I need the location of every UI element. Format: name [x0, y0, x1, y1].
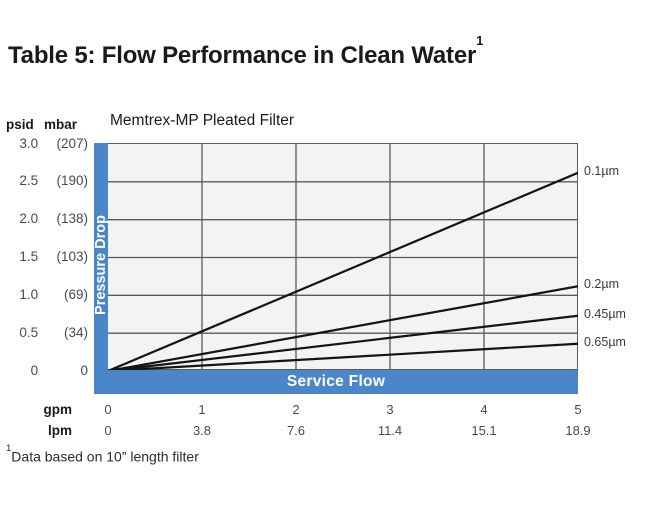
- x-tick-gpm: 0: [85, 402, 131, 417]
- x-tick-lpm: 7.6: [273, 423, 319, 438]
- y-axis-unit-psid: psid: [6, 117, 38, 132]
- y-axis-tick: 2.5(190): [0, 173, 92, 189]
- series-line-0.1µm: [108, 173, 578, 371]
- series-label-0.1µm: 0.1µm: [584, 164, 619, 178]
- footnote: 1Data based on 10” length filter: [6, 448, 199, 465]
- x-axis-label: Service Flow: [94, 370, 578, 394]
- plot-svg: [108, 144, 578, 371]
- footnote-marker: 1: [6, 443, 11, 454]
- y-axis-label: Pressure Drop: [94, 143, 108, 387]
- y-axis-tick: 0.5(34): [0, 324, 92, 340]
- y-axis-label-text: Pressure Drop: [93, 215, 109, 315]
- y-tick-mbar: (103): [44, 249, 92, 264]
- x-tick-lpm: 15.1: [461, 423, 507, 438]
- x-tick-gpm: 2: [273, 402, 319, 417]
- y-tick-mbar: (207): [44, 136, 92, 151]
- page-title: Table 5: Flow Performance in Clean Water…: [8, 42, 483, 70]
- y-tick-mbar: (138): [44, 211, 92, 226]
- y-axis-unit-header: psid mbar: [6, 117, 84, 132]
- plot-area: [108, 143, 578, 370]
- y-tick-psid: 1.0: [0, 287, 44, 302]
- x-tick-gpm: 5: [555, 402, 601, 417]
- x-tick-lpm: 18.9: [555, 423, 601, 438]
- y-tick-psid: 0.5: [0, 325, 44, 340]
- x-tick-lpm: 11.4: [367, 423, 413, 438]
- chart-title: Memtrex-MP Pleated Filter: [110, 112, 294, 130]
- x-tick-gpm: 3: [367, 402, 413, 417]
- page-title-text: Table 5: Flow Performance in Clean Water: [8, 42, 476, 69]
- page-title-superscript: 1: [476, 33, 483, 48]
- y-tick-psid: 3.0: [0, 136, 44, 151]
- y-axis-unit-mbar: mbar: [44, 117, 84, 132]
- y-tick-psid: 2.0: [0, 211, 44, 226]
- y-tick-mbar: (69): [44, 287, 92, 302]
- y-axis-tick: 1.5(103): [0, 249, 92, 265]
- x-tick-gpm: 1: [179, 402, 225, 417]
- y-tick-mbar: (34): [44, 325, 92, 340]
- x-axis-unit-lpm: lpm: [6, 423, 72, 438]
- y-tick-psid: 0: [0, 363, 44, 378]
- footnote-text: Data based on 10” length filter: [11, 449, 199, 465]
- series-label-0.65µm: 0.65µm: [584, 335, 626, 349]
- y-tick-mbar: (190): [44, 173, 92, 188]
- y-axis-tick: 2.0(138): [0, 211, 92, 227]
- y-tick-psid: 2.5: [0, 173, 44, 188]
- y-axis-tick: 3.0(207): [0, 135, 92, 151]
- x-axis-unit-gpm: gpm: [6, 402, 72, 417]
- x-tick-lpm: 0: [85, 423, 131, 438]
- x-tick-gpm: 4: [461, 402, 507, 417]
- series-line-0.45µm: [108, 316, 578, 371]
- y-tick-psid: 1.5: [0, 249, 44, 264]
- y-axis-tick: 00: [0, 362, 92, 378]
- y-tick-mbar: 0: [44, 363, 92, 378]
- x-tick-lpm: 3.8: [179, 423, 225, 438]
- y-axis-tick: 1.0(69): [0, 286, 92, 302]
- series-label-0.45µm: 0.45µm: [584, 307, 626, 321]
- series-label-0.2µm: 0.2µm: [584, 277, 619, 291]
